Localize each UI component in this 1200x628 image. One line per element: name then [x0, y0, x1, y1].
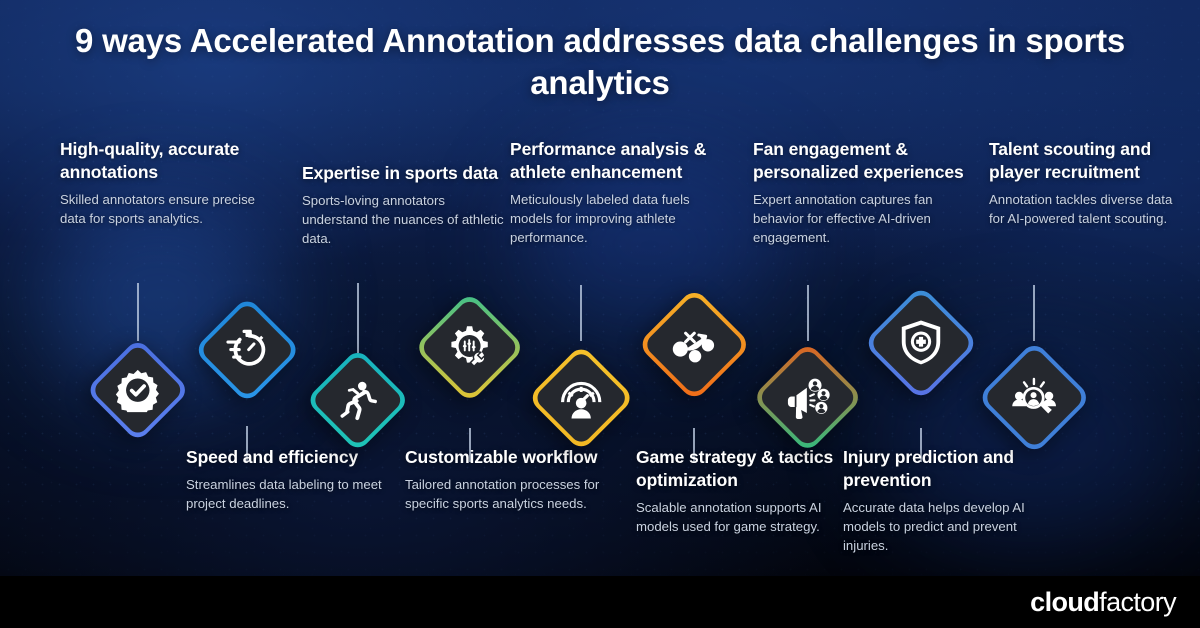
stopwatch-speed-icon [224, 327, 270, 373]
diamond-inner-9 [983, 346, 1086, 449]
diamond-node-7[interactable] [752, 342, 864, 454]
diamond-node-2[interactable] [193, 296, 301, 404]
playbook-tactics-icon [670, 320, 718, 368]
item-description-7: Expert annotation captures fan behavior … [753, 191, 968, 247]
diamond-inner-1 [92, 344, 185, 437]
diamond-inner-2 [199, 302, 296, 399]
item-description-6: Scalable annotation supports AI models u… [636, 499, 841, 536]
item-label-3: Expertise in sports dataSports-loving an… [302, 162, 507, 248]
diamond-inner-6 [643, 293, 746, 396]
item-title-2: Speed and efficiency [186, 446, 391, 469]
item-description-2: Streamlines data labeling to meet projec… [186, 476, 391, 513]
item-description-5: Meticulously labeled data fuels models f… [510, 191, 725, 247]
item-title-8: Injury prediction and prevention [843, 446, 1053, 492]
item-title-4: Customizable workflow [405, 446, 610, 469]
diamond-node-9[interactable] [977, 340, 1091, 454]
item-label-8: Injury prediction and preventionAccurate… [843, 446, 1053, 555]
connector-stem-9 [1033, 285, 1035, 341]
logo-text-light: factory [1099, 587, 1176, 617]
item-title-9: Talent scouting and player recruitment [989, 138, 1189, 184]
item-label-2: Speed and efficiencyStreamlines data lab… [186, 446, 391, 514]
item-label-6: Game strategy & tactics optimizationScal… [636, 446, 841, 537]
connector-stem-7 [807, 285, 809, 341]
logo-text-bold: cloud [1030, 587, 1099, 617]
connector-stem-1 [137, 283, 139, 341]
footer-bar: cloudfactory [0, 576, 1200, 628]
diamond-inner-5 [533, 350, 630, 447]
item-description-9: Annotation tackles diverse data for AI-p… [989, 191, 1189, 228]
item-label-7: Fan engagement & personalized experience… [753, 138, 968, 247]
diamond-inner-3 [312, 354, 405, 447]
megaphone-audience-icon [784, 374, 832, 422]
running-athlete-icon [336, 378, 380, 422]
connector-stem-5 [580, 285, 582, 341]
diamond-node-5[interactable] [527, 344, 635, 452]
badge-check-icon [116, 368, 160, 412]
item-label-4: Customizable workflowTailored annotation… [405, 446, 610, 514]
item-description-8: Accurate data helps develop AI models to… [843, 499, 1053, 555]
diamond-inner-8 [869, 291, 974, 396]
item-title-3: Expertise in sports data [302, 162, 507, 185]
talent-search-icon [1010, 373, 1058, 421]
diamond-node-8[interactable] [863, 285, 979, 401]
diamond-chain: High-quality, accurate annotationsSkille… [0, 0, 1200, 628]
item-label-1: High-quality, accurate annotationsSkille… [60, 138, 275, 229]
item-description-1: Skilled annotators ensure precise data f… [60, 191, 275, 228]
connector-stem-3 [357, 283, 359, 353]
diamond-inner-7 [758, 348, 859, 449]
diamond-inner-4 [420, 298, 521, 399]
item-title-5: Performance analysis & athlete enhanceme… [510, 138, 725, 184]
cloudfactory-logo: cloudfactory [1030, 589, 1176, 616]
diamond-node-6[interactable] [637, 287, 751, 401]
item-description-4: Tailored annotation processes for specif… [405, 476, 610, 513]
item-title-1: High-quality, accurate annotations [60, 138, 275, 184]
diamond-node-1[interactable] [86, 338, 190, 442]
item-title-7: Fan engagement & personalized experience… [753, 138, 968, 184]
item-label-5: Performance analysis & athlete enhanceme… [510, 138, 725, 247]
performance-gauge-icon [558, 375, 604, 421]
diamond-node-3[interactable] [306, 348, 410, 452]
gear-settings-wrench-icon [446, 324, 494, 372]
item-description-3: Sports-loving annotators understand the … [302, 192, 507, 248]
item-title-6: Game strategy & tactics optimization [636, 446, 841, 492]
item-label-9: Talent scouting and player recruitmentAn… [989, 138, 1189, 229]
diamond-node-4[interactable] [414, 292, 526, 404]
infographic-canvas: 9 ways Accelerated Annotation addresses … [0, 0, 1200, 628]
medical-shield-icon [896, 318, 945, 367]
